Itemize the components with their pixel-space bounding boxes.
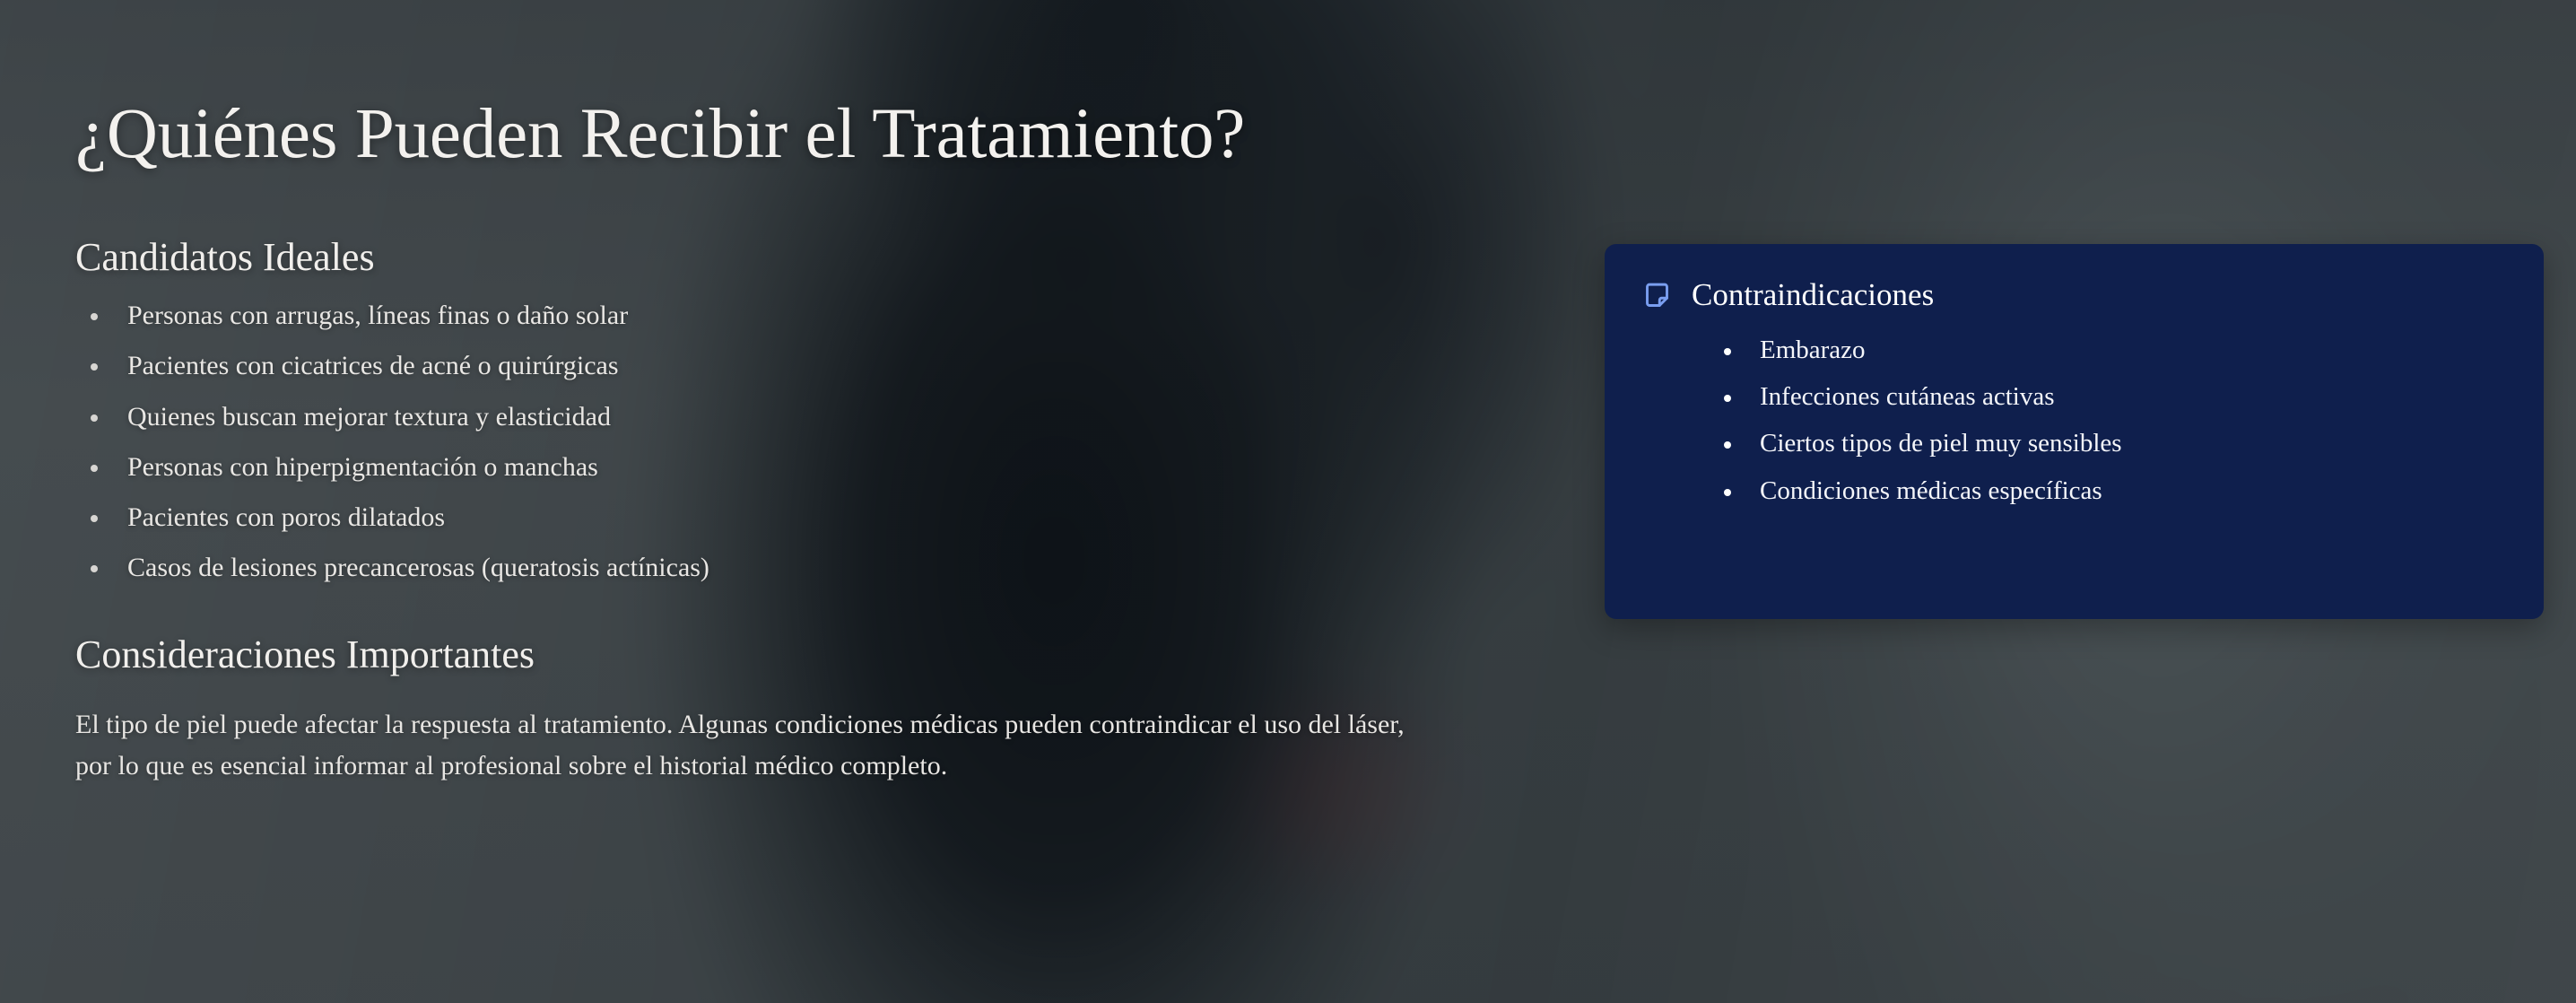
list-item: Condiciones médicas específicas (1642, 475, 2508, 507)
candidates-heading: Candidatos Ideales (75, 235, 1475, 279)
left-column: Candidatos Ideales Personas con arrugas,… (75, 235, 1475, 788)
ideal-candidates-list: Personas con arrugas, líneas finas o dañ… (75, 299, 1475, 584)
card-title: Contraindicaciones (1692, 278, 1934, 313)
list-item: Infecciones cutáneas activas (1642, 381, 2508, 413)
page-title: ¿Quiénes Pueden Recibir el Tratamiento? (75, 97, 1245, 172)
considerations-paragraph: El tipo de piel puede afectar la respues… (75, 704, 1430, 788)
contraindications-card: Contraindicaciones Embarazo Infecciones … (1605, 244, 2544, 619)
list-item: Personas con arrugas, líneas finas o dañ… (75, 299, 1475, 332)
list-item: Casos de lesiones precancerosas (querato… (75, 551, 1475, 584)
sticky-note-icon (1642, 281, 1672, 310)
list-item: Pacientes con poros dilatados (75, 501, 1475, 534)
list-item: Personas con hiperpigmentación o manchas (75, 450, 1475, 484)
card-header: Contraindicaciones (1642, 278, 2508, 313)
contraindications-list: Embarazo Infecciones cutáneas activas Ci… (1642, 335, 2508, 508)
list-item: Pacientes con cicatrices de acné o quirú… (75, 349, 1475, 382)
list-item: Ciertos tipos de piel muy sensibles (1642, 428, 2508, 459)
list-item: Embarazo (1642, 335, 2508, 366)
slide-content: ¿Quiénes Pueden Recibir el Tratamiento? … (0, 0, 2576, 1003)
considerations-heading: Consideraciones Importantes (75, 632, 1475, 676)
list-item: Quienes buscan mejorar textura y elastic… (75, 400, 1475, 433)
slide-root: ¿Quiénes Pueden Recibir el Tratamiento? … (0, 0, 2576, 1003)
